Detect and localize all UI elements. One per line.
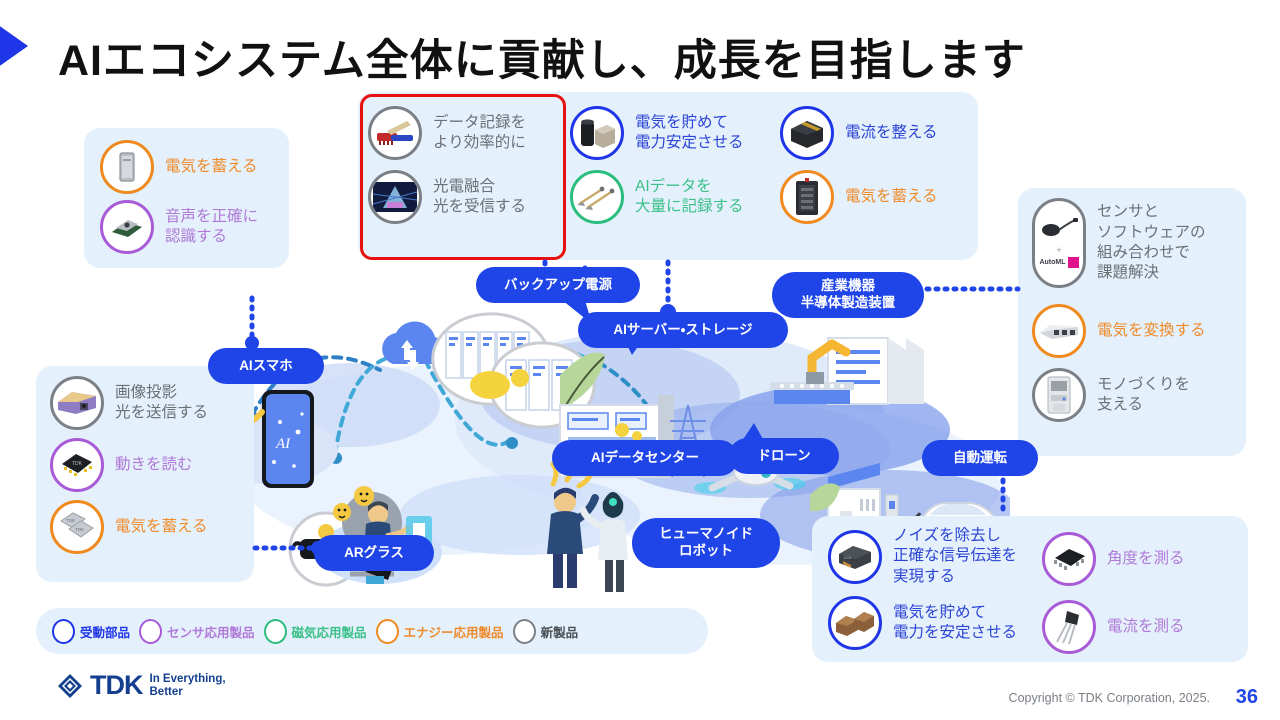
callout-autonomous-driving[interactable]: 自動運転	[922, 440, 1038, 476]
legend: 受動部品 センサ応用製品 磁気応用製品 エナジー応用製品 新製品	[36, 608, 708, 654]
legend-item: センサ応用製品	[139, 619, 255, 644]
callout-drone-tail	[740, 423, 766, 443]
callout-ai-server-tail	[620, 335, 650, 357]
legend-item: エナジー応用製品	[376, 619, 504, 644]
legend-item: 受動部品	[52, 619, 130, 644]
legend-circle-new-icon	[513, 619, 536, 644]
callout-humanoid-robot[interactable]: ヒューマノイド ロボット	[632, 518, 780, 568]
legend-circle-magnetic-icon	[264, 619, 287, 644]
legend-circle-sensor-icon	[139, 619, 162, 644]
callout-industrial-equipment[interactable]: 産業機器 半導体製造装置	[772, 272, 924, 318]
legend-label: センサ応用製品	[167, 622, 255, 641]
callout-ai-server-storage[interactable]: AIサーバー・ストレージ	[578, 312, 788, 348]
page-number: 36	[1236, 686, 1258, 709]
legend-label: エナジー応用製品	[404, 622, 504, 641]
copyright-text: Copyright © TDK Corporation, 2025.	[1009, 691, 1210, 705]
legend-label: 磁気応用製品	[292, 622, 367, 641]
legend-item: 新製品	[513, 619, 579, 644]
legend-circle-passive-icon	[52, 619, 75, 644]
tdk-wordmark: TDK	[90, 672, 143, 699]
legend-label: 新製品	[541, 622, 579, 641]
callout-ai-smartphone[interactable]: AIスマホ	[208, 348, 324, 384]
callout-ai-data-center[interactable]: AIデータセンター	[552, 440, 738, 476]
tdk-tagline: In Everything, Better	[150, 673, 226, 698]
tdk-logo: TDK In Everything, Better	[57, 672, 226, 699]
slide-root: AIエコシステム全体に貢献し、成長を目指します	[0, 0, 1280, 720]
legend-item: 磁気応用製品	[264, 619, 367, 644]
tdk-diamond-icon	[57, 673, 83, 699]
callout-drone[interactable]: ドローン	[729, 438, 839, 474]
legend-label: 受動部品	[80, 622, 130, 641]
callout-ar-glasses[interactable]: ARグラス	[314, 535, 434, 571]
legend-circle-energy-icon	[376, 619, 399, 644]
